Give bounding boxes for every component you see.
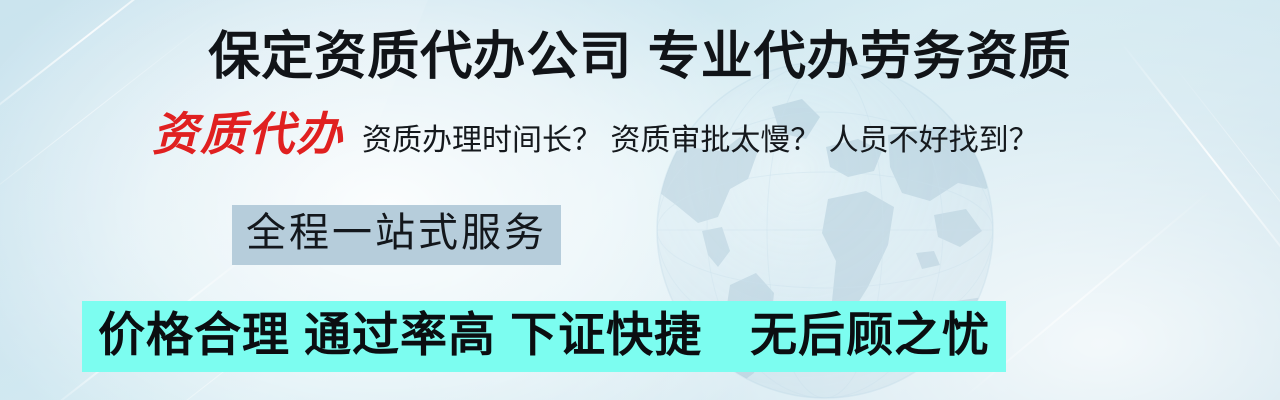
problem-statement-row: 资质代办 资质办理时间长？ 资质审批太慢？ 人员不好找到？	[152, 112, 1039, 158]
benefits-highlight-bar: 价格合理 通过率高 下证快捷 无后顾之忧	[82, 301, 1006, 372]
problem-questions-text: 资质办理时间长？ 资质审批太慢？ 人员不好找到？	[362, 126, 1039, 156]
brand-stamp-label: 资质代办	[152, 112, 362, 158]
service-highlight-label: 全程一站式服务	[232, 205, 561, 265]
promo-banner: 保定资质代办公司 专业代办劳务资质 资质代办 资质办理时间长？ 资质审批太慢？ …	[0, 0, 1280, 400]
light-streak-decoration	[1170, 60, 1280, 297]
banner-headline: 保定资质代办公司 专业代办劳务资质	[0, 14, 1280, 89]
